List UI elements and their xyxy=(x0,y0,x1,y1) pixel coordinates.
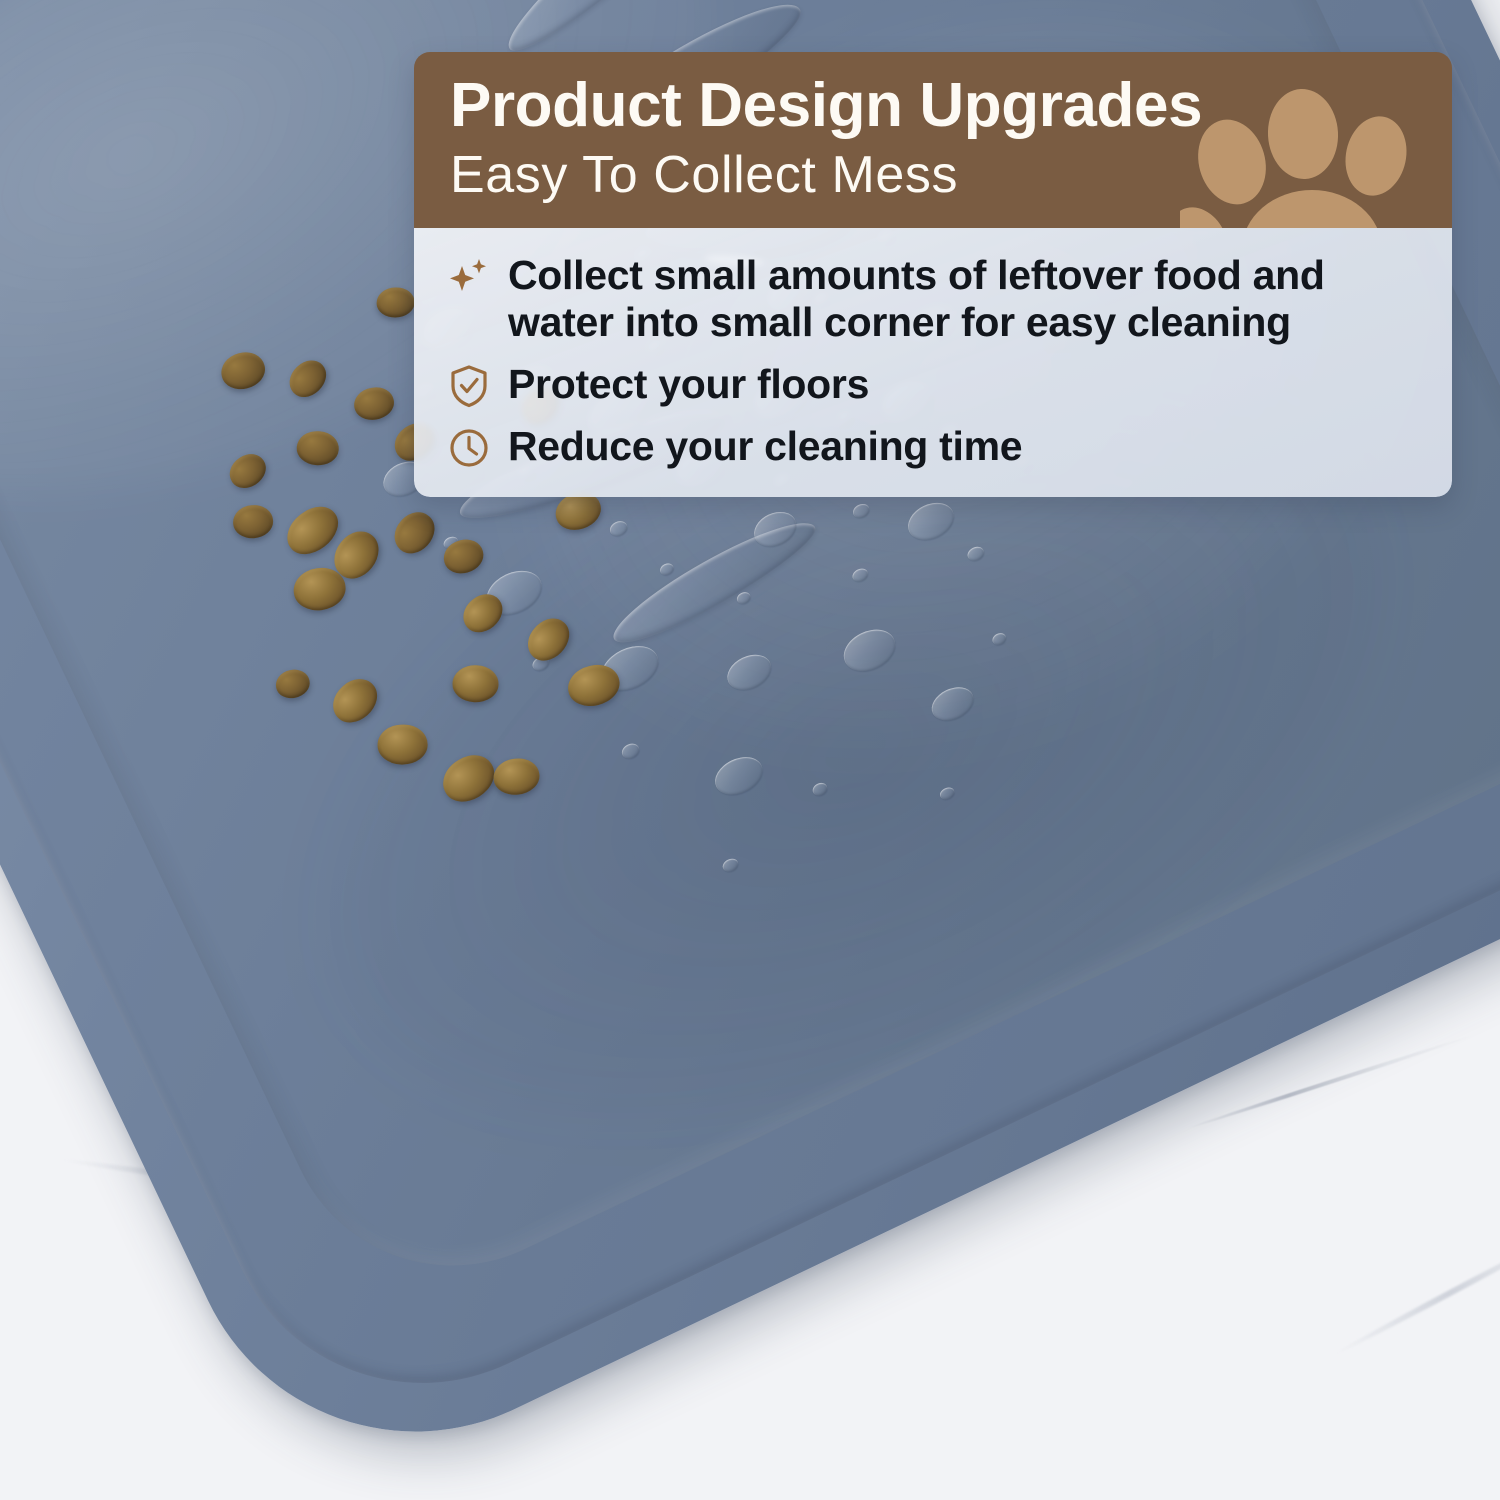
list-item-label: Protect your floors xyxy=(508,361,869,409)
list-item: Protect your floors xyxy=(448,361,1422,409)
feature-list: Collect small amounts of leftover food a… xyxy=(414,228,1452,497)
sparkle-icon xyxy=(448,254,490,300)
page-title: Product Design Upgrades xyxy=(450,74,1416,138)
info-card: Product Design Upgrades Easy To Collect … xyxy=(414,52,1452,497)
list-item: Collect small amounts of leftover food a… xyxy=(448,252,1422,347)
card-header: Product Design Upgrades Easy To Collect … xyxy=(414,52,1452,228)
list-item: Reduce your cleaning time xyxy=(448,423,1422,471)
clock-icon xyxy=(448,425,490,471)
product-marketing-image: Sunitool Product Design Upgrades Easy To… xyxy=(0,0,1500,1500)
page-subtitle: Easy To Collect Mess xyxy=(450,148,1416,203)
list-item-label: Collect small amounts of leftover food a… xyxy=(508,252,1422,347)
list-item-label: Reduce your cleaning time xyxy=(508,423,1022,471)
shield-check-icon xyxy=(448,363,490,409)
